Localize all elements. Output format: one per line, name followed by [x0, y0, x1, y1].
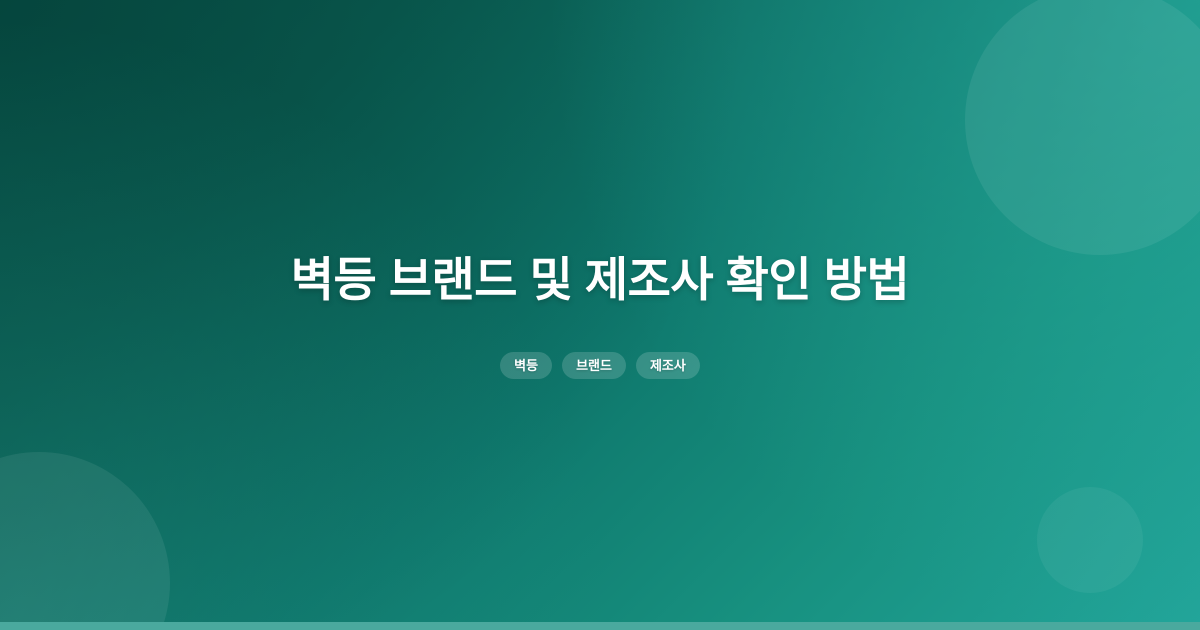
page-title: 벽등 브랜드 및 제조사 확인 방법	[291, 251, 909, 310]
bottom-accent-bar	[0, 622, 1200, 630]
tag-chip-3[interactable]: 제조사	[636, 352, 700, 379]
og-share-card: 벽등 브랜드 및 제조사 확인 방법 벽등 브랜드 제조사	[0, 0, 1200, 630]
card-content: 벽등 브랜드 및 제조사 확인 방법 벽등 브랜드 제조사	[0, 0, 1200, 630]
tag-chip-1[interactable]: 벽등	[500, 352, 552, 379]
tag-list: 벽등 브랜드 제조사	[500, 352, 700, 379]
tag-chip-2[interactable]: 브랜드	[562, 352, 626, 379]
